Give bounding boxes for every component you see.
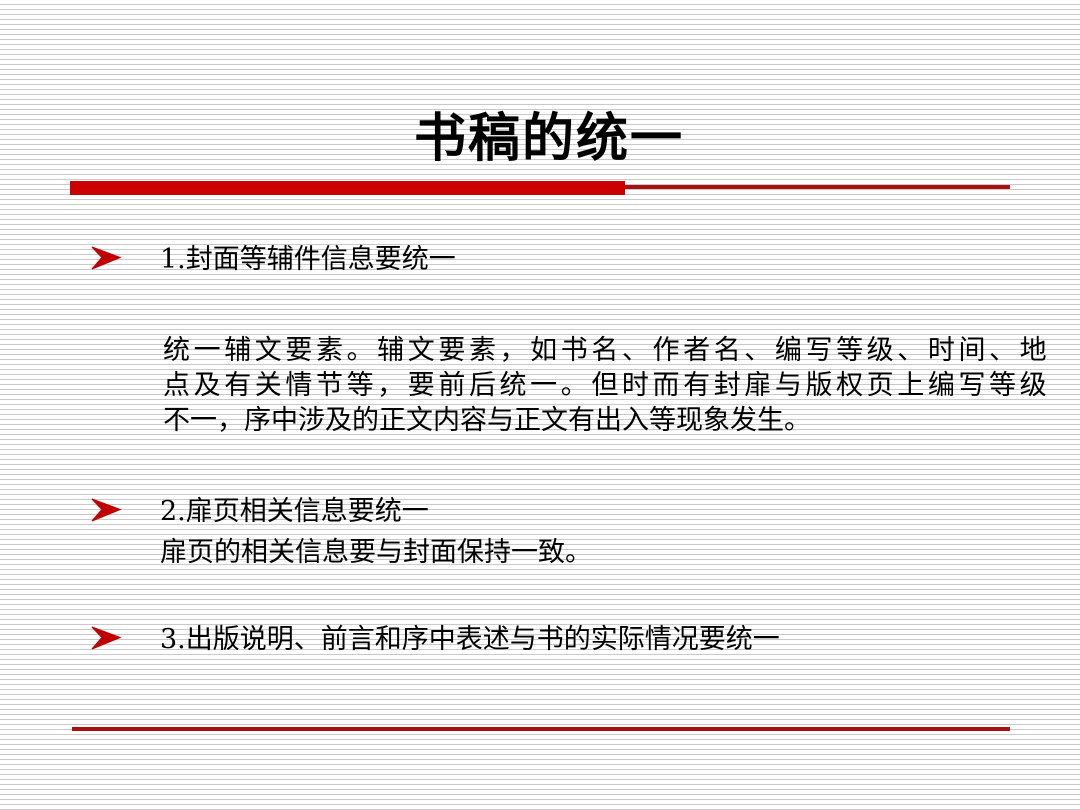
arrow-bullet-icon [90, 623, 124, 653]
list-item-label: 3.出版说明、前言和序中表述与书的实际情况要统一 [160, 623, 780, 657]
slide-canvas: 书稿的统一 1.封面等辅件信息要统一 统一辅文要素。辅文要素，如书名、作者名、编… [0, 0, 1080, 810]
paragraph-line-3: 不一，序中涉及的正文内容与正文有出入等现象发生。 [163, 403, 1047, 438]
arrow-bullet-icon [90, 495, 124, 525]
list-item-subtext: 扉页的相关信息要与封面保持一致。 [160, 536, 592, 570]
paragraph-line-1: 统一辅文要素。辅文要素，如书名、作者名、编写等级、时间、地 [163, 333, 1047, 368]
arrow-bullet-icon [90, 243, 124, 273]
bottom-divider-rule [72, 727, 1010, 731]
title-divider [70, 181, 1010, 195]
list-item-label: 2.扉页相关信息要统一 [160, 495, 429, 529]
paragraph-line-2: 点及有关情节等，要前后统一。但时而有封扉与版权页上编写等级 [163, 368, 1047, 403]
page-title: 书稿的统一 [0, 108, 1080, 170]
list-item: 1.封面等辅件信息要统一 [0, 243, 1080, 283]
body-paragraph: 统一辅文要素。辅文要素，如书名、作者名、编写等级、时间、地 点及有关情节等，要前… [163, 333, 1047, 438]
list-item: 3.出版说明、前言和序中表述与书的实际情况要统一 [0, 623, 1080, 663]
list-item: 2.扉页相关信息要统一 [0, 495, 1080, 535]
divider-thick-bar [70, 181, 625, 195]
list-item-label: 1.封面等辅件信息要统一 [160, 243, 456, 277]
